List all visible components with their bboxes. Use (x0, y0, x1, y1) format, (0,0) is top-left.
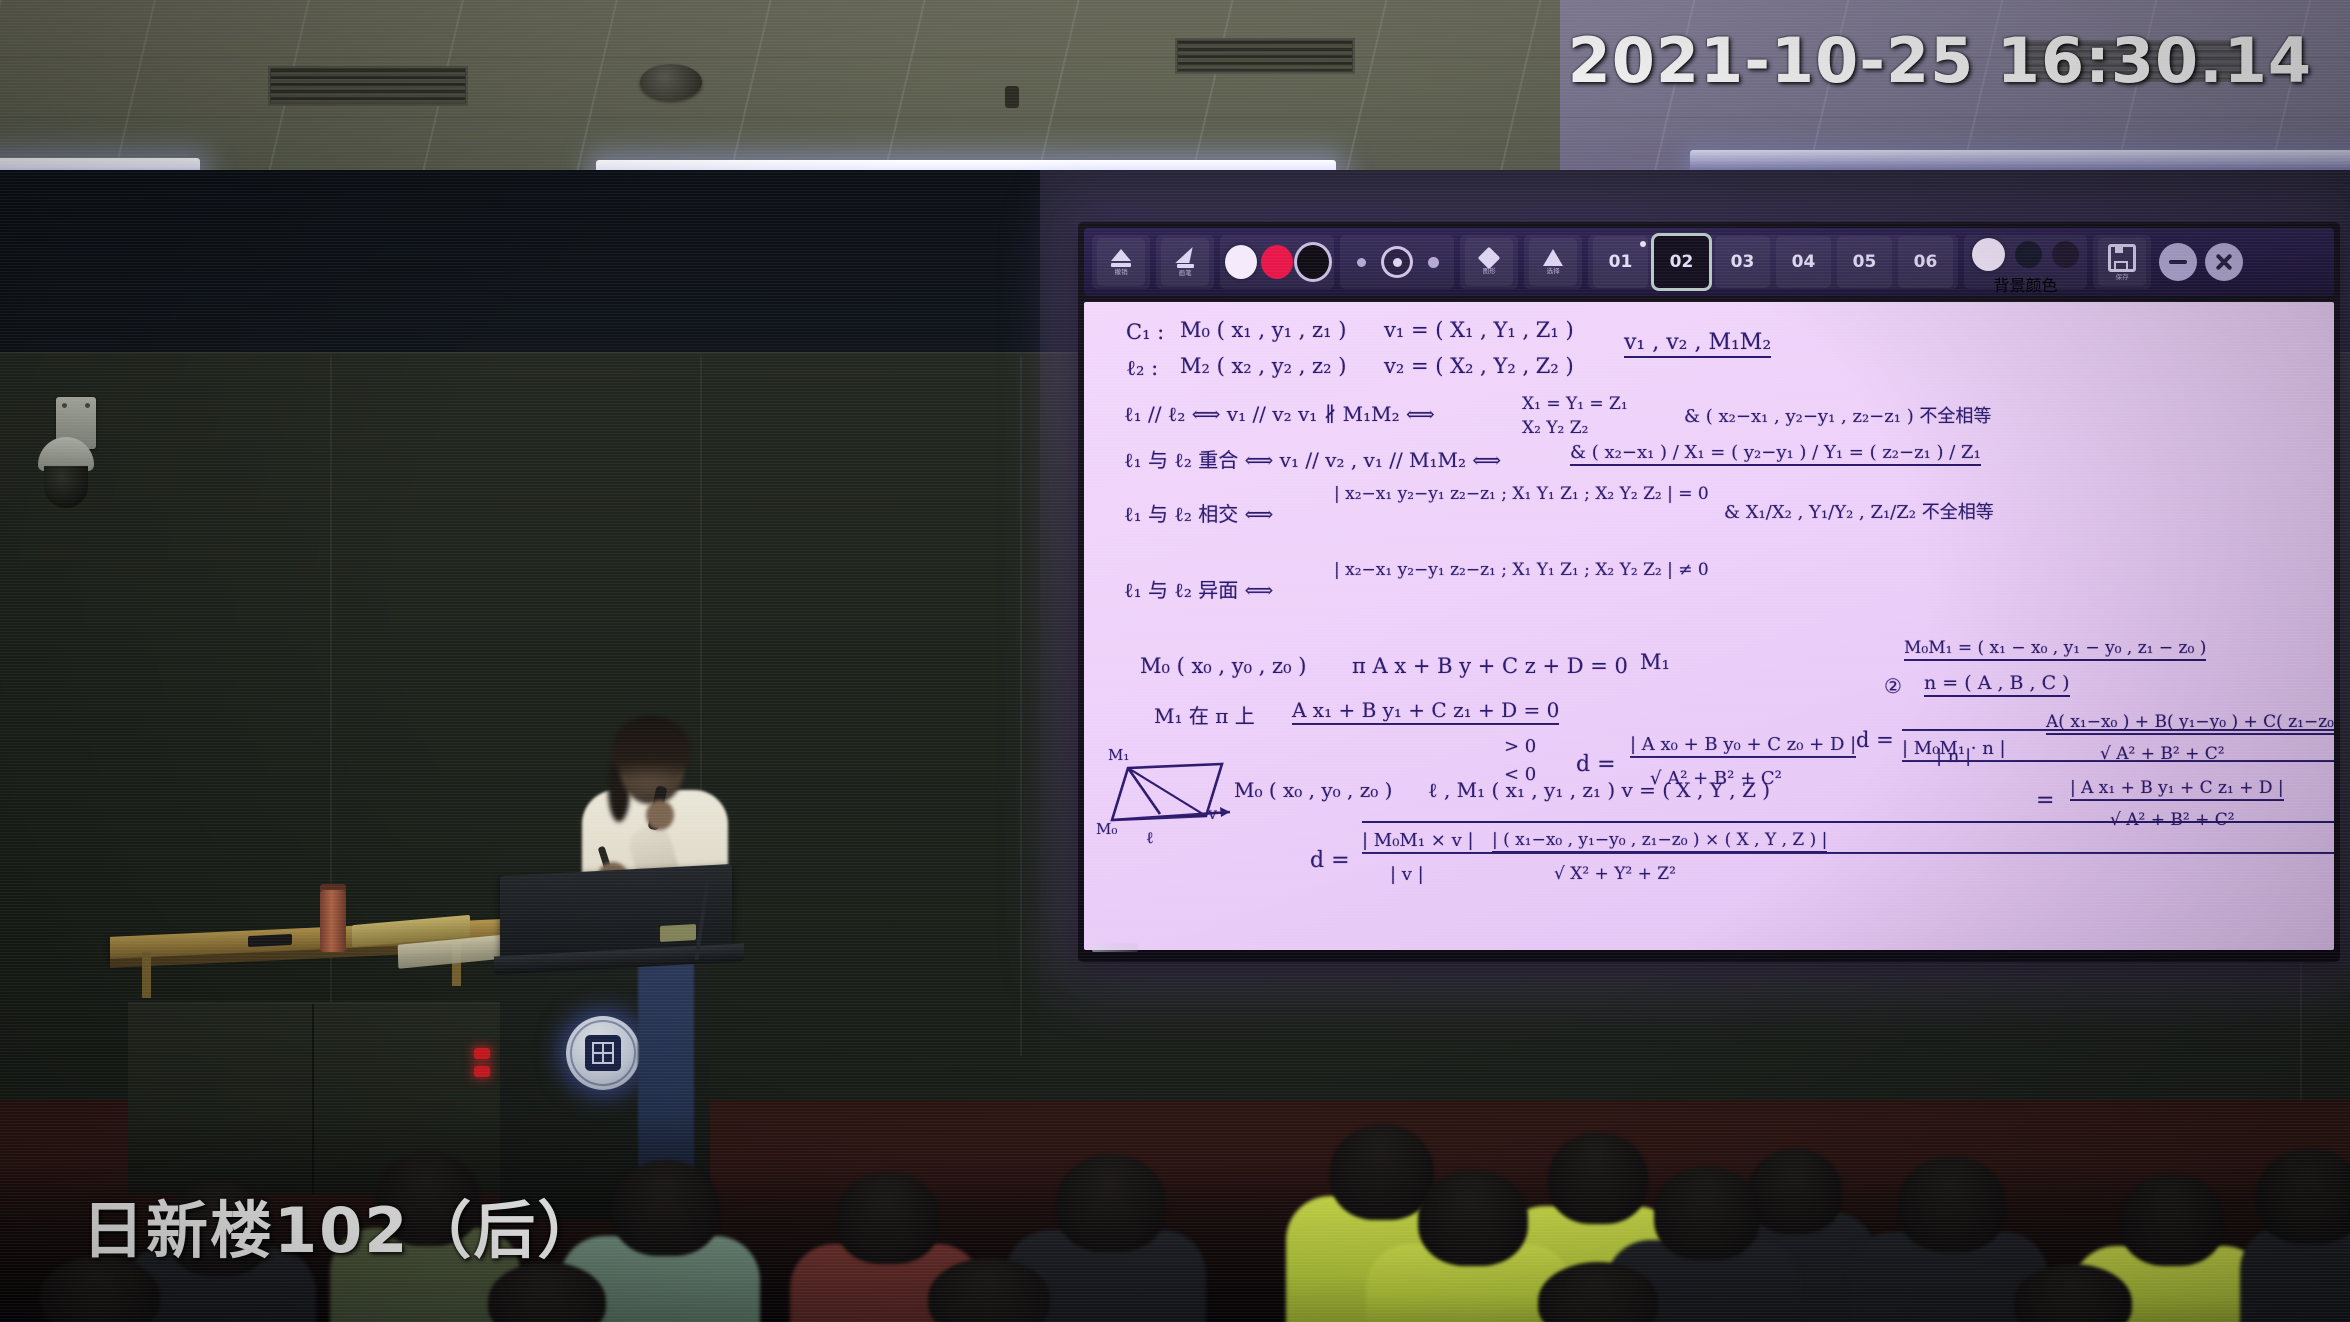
stroke-width-large[interactable] (1417, 240, 1449, 284)
plane-equation-pi: π A x + B y + C z + D = 0 (1352, 654, 1628, 678)
smoke-detector (640, 64, 702, 100)
toolbar-group-select: 选择 (1524, 235, 1582, 289)
page-tab-05[interactable]: 05 (1837, 236, 1892, 288)
timestamp-overlay: 2021-10-25 16:30.14 (1568, 24, 2312, 97)
distance-plane-numerator: | A x₀ + B y₀ + C z₀ + D | (1630, 734, 1856, 758)
final-equals: = (2036, 788, 2054, 813)
page-tab-03[interactable]: 03 (1715, 236, 1770, 288)
desk-leg-left (142, 952, 151, 998)
close-button[interactable] (2205, 243, 2243, 281)
ceiling-vent-right (1175, 38, 1355, 74)
cabinet-door-seam (312, 1004, 314, 1194)
plane-point: M₀ ( x₀ , y₀ , z₀ ) (1140, 654, 1306, 678)
minus-icon (2169, 260, 2187, 264)
ceiling-sprinkler (1005, 86, 1019, 108)
student-head (1056, 1154, 1166, 1252)
diagram-label-m1: M₁ (1108, 746, 1129, 764)
remote-control (248, 934, 292, 947)
vent-louvers (271, 69, 465, 103)
vectors-heading: v₁ , v₂ , M₁M₂ (1624, 330, 1771, 358)
minimize-button[interactable] (2159, 243, 2197, 281)
student-head (1654, 1166, 1760, 1260)
derive-denominator: | n | (1936, 746, 1971, 767)
emblem-crest-icon (585, 1035, 621, 1071)
toolbar-group-save: 保存 (2093, 235, 2151, 289)
toolbar-group-pen: 画笔 (1156, 235, 1214, 289)
line1-direction: v₁ = ( X₁ , Y₁ , Z₁ ) (1384, 318, 1574, 342)
save-label: 保存 (2115, 274, 2128, 280)
toolbar-group-stroke-width (1340, 235, 1454, 289)
toolbar-group-shape: 图形 (1460, 235, 1518, 289)
large-dot-icon (1428, 257, 1439, 268)
page-tab-02[interactable]: 02 (1654, 236, 1709, 288)
color-swatch-black[interactable] (1297, 240, 1329, 284)
line2-direction: v₂ = ( X₂ , Y₂ , Z₂ ) (1384, 354, 1574, 378)
student-head (1748, 1148, 1842, 1234)
undo-icon (1111, 249, 1131, 267)
final-numerator: | A x₁ + B y₁ + C z₁ + D | (2070, 778, 2284, 801)
lecturer-hand-right (646, 800, 674, 830)
laptop-badge (660, 924, 696, 942)
toolbar-group-pages: 01 02 03 04 05 06 (1588, 235, 1958, 289)
relation-coincide-tail: & ( x₂−x₁ ) / X₁ = ( y₂−y₁ ) / Y₁ = ( z₂… (1570, 442, 1981, 466)
line-distance-expanded-numerator: | ( x₁−x₀ , y₁−y₀ , z₁−z₀ ) × ( X , Y , … (1492, 830, 1827, 853)
pen-tool-button[interactable]: 画笔 (1161, 238, 1209, 286)
student-head (612, 1160, 720, 1256)
color-swatch-white[interactable] (1225, 240, 1257, 284)
small-dot-icon (1357, 258, 1366, 267)
save-button[interactable]: 保存 (2098, 238, 2146, 286)
undo-tool-label: 撤销 (1114, 269, 1127, 275)
save-icon (2108, 244, 2136, 272)
lecturer-hair (612, 716, 690, 782)
whiteboard-canvas[interactable]: C₁ : M₀ ( x₁ , y₁ , z₁ ) v₁ = ( X₁ , Y₁ … (1084, 302, 2334, 950)
pen-tool-label: 画笔 (1178, 270, 1191, 276)
pen-icon (1177, 247, 1194, 268)
sign-positive: > 0 (1504, 736, 1536, 757)
relation-skew-determinant: | x₂−x₁ y₂−y₁ z₂−z₁ ; X₁ Y₁ Z₁ ; X₂ Y₂ Z… (1334, 560, 1709, 580)
smart-whiteboard[interactable]: 撤销 画笔 (1078, 222, 2340, 962)
cabinet-status-led-1 (474, 1048, 490, 1059)
plane-substituted-equation: A x₁ + B y₁ + C z₁ + D = 0 (1292, 698, 1559, 725)
line-distance-point: M₀ ( x₀ , y₀ , z₀ ) (1234, 778, 1393, 802)
select-tool-button[interactable]: 选择 (1529, 238, 1577, 286)
wall-seam (1020, 356, 1022, 1056)
cabinet-status-led-2 (474, 1066, 490, 1077)
derive-d-label: d = (1856, 728, 1894, 752)
circled-label: ② (1884, 674, 1902, 698)
page-unsaved-dot-icon (1640, 241, 1646, 247)
line-distance-diagram (1102, 754, 1252, 854)
relation-coincide: ℓ₁ 与 ℓ₂ 重合 ⟺ v₁ // v₂ , v₁ // M₁M₂ ⟺ (1124, 444, 1501, 473)
relation-parallel-tail: & ( x₂−x₁ , y₂−y₁ , z₂−z₁ ) 不全相等 (1684, 402, 1991, 428)
relation-skew: ℓ₁ 与 ℓ₂ 异面 ⟺ (1124, 574, 1273, 603)
toolbar-group-backgrounds: 背景颜色 (1964, 235, 2087, 289)
line1-point: M₀ ( x₁ , y₁ , z₁ ) (1180, 318, 1346, 342)
student-head (836, 1172, 940, 1264)
final-denominator: √ A² + B² + C² (2110, 810, 2235, 830)
plane-m1-marker: M₁ (1640, 650, 1670, 674)
line2-label: ℓ₂ : (1126, 356, 1158, 381)
stroke-width-medium[interactable] (1381, 240, 1413, 284)
line-distance-denominator: | v | (1390, 864, 1424, 885)
university-emblem (566, 1016, 640, 1090)
relation-intersect: ℓ₁ 与 ℓ₂ 相交 ⟺ (1124, 498, 1273, 527)
background-group-label: 背景颜色 (1993, 272, 2057, 296)
shape-tool-button[interactable]: 图形 (1465, 238, 1513, 286)
diagram-label-l: ℓ (1146, 828, 1154, 848)
background-dark-blue-icon[interactable] (2015, 241, 2042, 268)
toolbar-group-undo: 撤销 (1092, 235, 1150, 289)
relation-parallel: ℓ₁ // ℓ₂ ⟺ v₁ // v₂ v₁ ∦ M₁M₂ ⟺ (1124, 402, 1435, 427)
distance-plane-label: d = (1576, 752, 1616, 777)
surveillance-frame: 撤销 画笔 (0, 0, 2350, 1322)
line-distance-expanded-denominator: √ X² + Y² + Z² (1554, 864, 1676, 884)
normal-vector: n = ( A , B , C ) (1924, 672, 2070, 697)
black-swatch-icon (1297, 245, 1329, 279)
background-dark-purple-icon[interactable] (2052, 241, 2079, 268)
background-white-icon[interactable] (1972, 238, 2005, 271)
diagram-label-m0: M₀ (1096, 820, 1117, 838)
medium-dot-icon (1384, 249, 1410, 275)
line1-label: C₁ : (1126, 320, 1164, 344)
student-head (1330, 1124, 1434, 1220)
line-distance-line: ℓ , M₁ ( x₁ , y₁ , z₁ ) v = ( X , Y , Z … (1428, 778, 1770, 803)
vent-louvers (1178, 41, 1352, 71)
relation-intersect-determinant: | x₂−x₁ y₂−y₁ z₂−z₁ ; X₁ Y₁ Z₁ ; X₂ Y₂ Z… (1334, 484, 1709, 504)
stroke-width-small[interactable] (1345, 240, 1377, 284)
red-swatch-icon (1261, 245, 1293, 279)
toolbar-group-colors (1220, 235, 1334, 289)
student-head (1898, 1156, 2006, 1252)
ceiling-vent-left (268, 66, 468, 106)
display-brand-logo (1092, 943, 1138, 952)
undo-tool-button[interactable]: 撤销 (1097, 238, 1145, 286)
relation-parallel-fraction-num: X₁ = Y₁ = Z₁ (1522, 394, 1628, 414)
plane-on-label: M₁ 在 π 上 (1154, 700, 1255, 729)
diagram-label-v: v (1208, 804, 1217, 823)
ptz-camera-dome (44, 466, 88, 508)
triangle-select-icon (1543, 249, 1563, 266)
derive-expanded-numerator: A( x₁−x₀ ) + B( y₁−y₀ ) + C( z₁−z₀ ) (2046, 712, 2334, 735)
student-head (2256, 1148, 2350, 1244)
room-label-overlay: 日新楼102（后） (82, 1180, 601, 1270)
student-head (1548, 1132, 1648, 1224)
line2-point: M₂ ( x₂ , y₂ , z₂ ) (1180, 354, 1346, 378)
vector-m0m1: M₀M₁ = ( x₁ − x₀ , y₁ − y₀ , z₁ − z₀ ) (1904, 638, 2206, 661)
whiteboard-toolbar[interactable]: 撤销 画笔 (1084, 228, 2334, 296)
derive-expanded-denominator: √ A² + B² + C² (2100, 744, 2225, 764)
page-tab-06[interactable]: 06 (1898, 236, 1953, 288)
select-tool-label: 选择 (1546, 268, 1559, 274)
student-head (2120, 1174, 2224, 1266)
color-swatch-red[interactable] (1261, 240, 1293, 284)
white-swatch-icon (1225, 245, 1257, 279)
shape-tool-label: 图形 (1482, 268, 1495, 274)
relation-parallel-fraction-den: X₂ Y₂ Z₂ (1522, 418, 1588, 438)
diamond-shape-icon (1478, 246, 1501, 269)
line-distance-label: d = (1310, 848, 1350, 873)
thermos (320, 890, 346, 952)
page-tab-04[interactable]: 04 (1776, 236, 1831, 288)
relation-intersect-tail: & X₁/X₂ , Y₁/Y₂ , Z₁/Z₂ 不全相等 (1724, 498, 1994, 524)
student-head (1418, 1170, 1528, 1266)
